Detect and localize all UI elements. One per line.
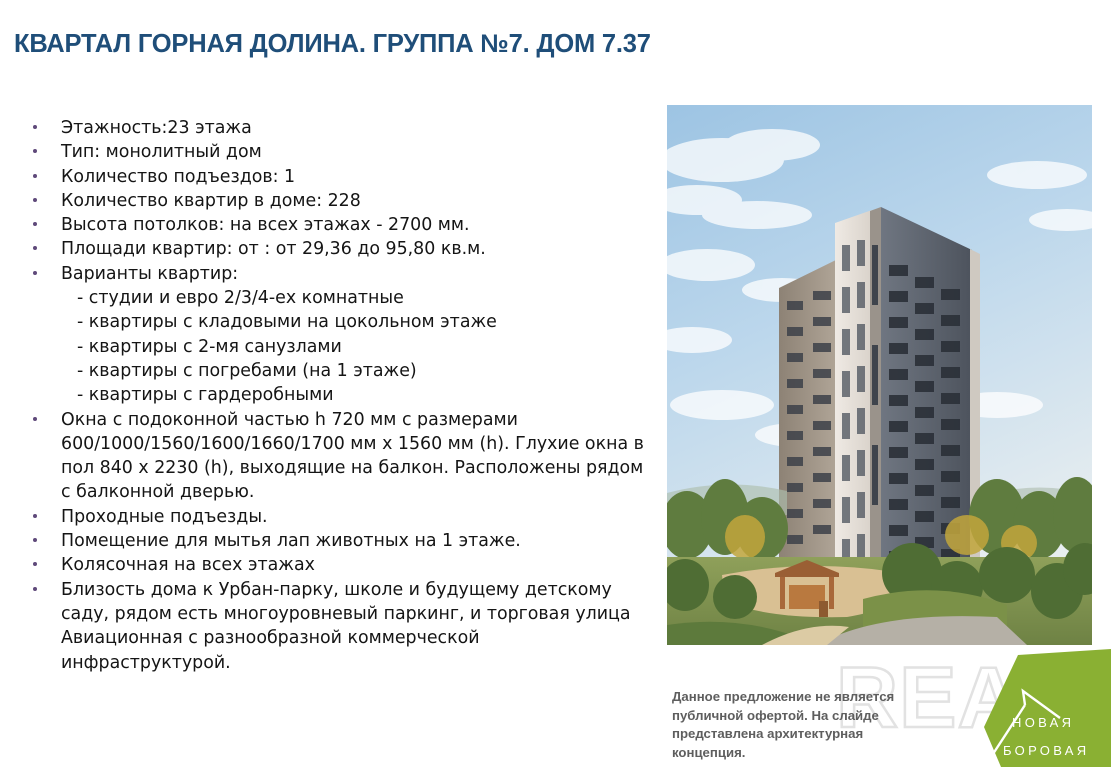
feature-list: Этажность:23 этажа Тип: монолитный дом К… — [26, 116, 651, 675]
list-item-label: Количество квартир в доме: 228 — [61, 191, 361, 211]
list-item: Высота потолков: на всех этажах - 2700 м… — [26, 213, 651, 237]
sublist-item: - квартиры с погребами (на 1 этаже) — [61, 359, 651, 383]
list-item-location: Близость дома к Урбан-парку, школе и буд… — [26, 578, 651, 675]
list-item: Тип: монолитный дом — [26, 140, 651, 164]
bullet-icon — [33, 538, 37, 542]
bullet-icon — [33, 246, 37, 250]
list-item-label: Количество подъездов: 1 — [61, 167, 295, 187]
novaya-borovaya-logo: НОВАЯ БОРОВАЯ — [955, 645, 1111, 778]
list-item-label: Тип: монолитный дом — [61, 142, 262, 162]
bullet-icon — [33, 514, 37, 518]
bullet-icon — [33, 125, 37, 129]
list-item-label: Варианты квартир: — [61, 264, 238, 284]
disclaimer-text: Данное предложение не является публичной… — [672, 688, 904, 762]
list-item: Этажность:23 этажа — [26, 116, 651, 140]
list-item-label: Окна с подоконной частью h 720 мм с разм… — [61, 410, 644, 503]
apartment-variants-sublist: - студии и евро 2/3/4-ех комнатные - ква… — [61, 286, 651, 407]
list-item-label: Проходные подъезды. — [61, 507, 268, 527]
sublist-item: - квартиры с гардеробными — [61, 383, 651, 407]
list-item: Проходные подъезды. — [26, 505, 651, 529]
list-item-apartment-variants: Варианты квартир: - студии и евро 2/3/4-… — [26, 262, 651, 408]
bullet-icon — [33, 587, 37, 591]
list-item-label: Этажность:23 этажа — [61, 118, 252, 138]
list-item-label: Площади квартир: от : от 29,36 до 95,80 … — [61, 239, 486, 259]
building-render-image — [667, 105, 1092, 645]
list-item-label: Колясочная на всех этажах — [61, 555, 315, 575]
bullet-icon — [33, 149, 37, 153]
list-item: Колясочная на всех этажах — [26, 553, 651, 577]
sublist-item: - квартиры с 2-мя санузлами — [61, 335, 651, 359]
bullet-icon — [33, 562, 37, 566]
bullet-icon — [33, 222, 37, 226]
list-item: Площади квартир: от : от 29,36 до 95,80 … — [26, 237, 651, 261]
list-item: Количество квартир в доме: 228 — [26, 189, 651, 213]
bullet-icon — [33, 417, 37, 421]
logo-line-2: БОРОВАЯ — [1003, 743, 1089, 758]
list-item: Помещение для мытья лап животных на 1 эт… — [26, 529, 651, 553]
logo-line-1: НОВАЯ — [1012, 715, 1074, 730]
sublist-item: - студии и евро 2/3/4-ех комнатные — [61, 286, 651, 310]
list-item-windows: Окна с подоконной частью h 720 мм с разм… — [26, 408, 651, 505]
list-item: Количество подъездов: 1 — [26, 165, 651, 189]
sublist-item: - квартиры с кладовыми на цокольном этаж… — [61, 310, 651, 334]
bullet-icon — [33, 271, 37, 275]
list-item-label: Помещение для мытья лап животных на 1 эт… — [61, 531, 521, 551]
list-item-label: Близость дома к Урбан-парку, школе и буд… — [61, 580, 631, 673]
page-title: КВАРТАЛ ГОРНАЯ ДОЛИНА. ГРУППА №7. ДОМ 7.… — [14, 30, 914, 59]
bullet-icon — [33, 198, 37, 202]
list-item-label: Высота потолков: на всех этажах - 2700 м… — [61, 215, 470, 235]
bullet-icon — [33, 174, 37, 178]
